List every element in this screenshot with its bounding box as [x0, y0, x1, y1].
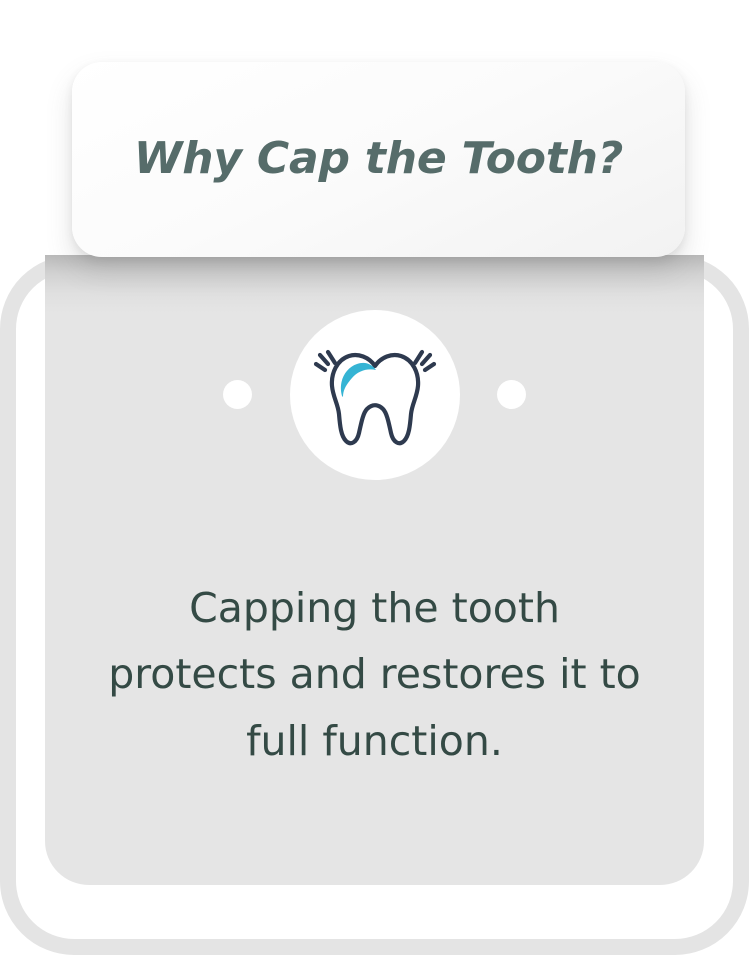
right-decorative-dot — [497, 380, 526, 409]
page-title: Why Cap the Tooth? — [134, 135, 623, 183]
card-body-text: Capping the tooth protects and restores … — [105, 575, 644, 774]
info-card: Capping the tooth protects and restores … — [45, 255, 704, 885]
icon-circle — [290, 310, 460, 480]
left-decorative-dot — [223, 380, 252, 409]
sparkling-tooth-icon — [310, 330, 440, 460]
tooth-shine-highlight — [341, 363, 376, 397]
header-pill: Why Cap the Tooth? — [72, 62, 685, 257]
info-card-stage: Capping the tooth protects and restores … — [0, 0, 749, 930]
header-drop-shadow — [45, 255, 704, 313]
icon-row — [45, 310, 704, 490]
